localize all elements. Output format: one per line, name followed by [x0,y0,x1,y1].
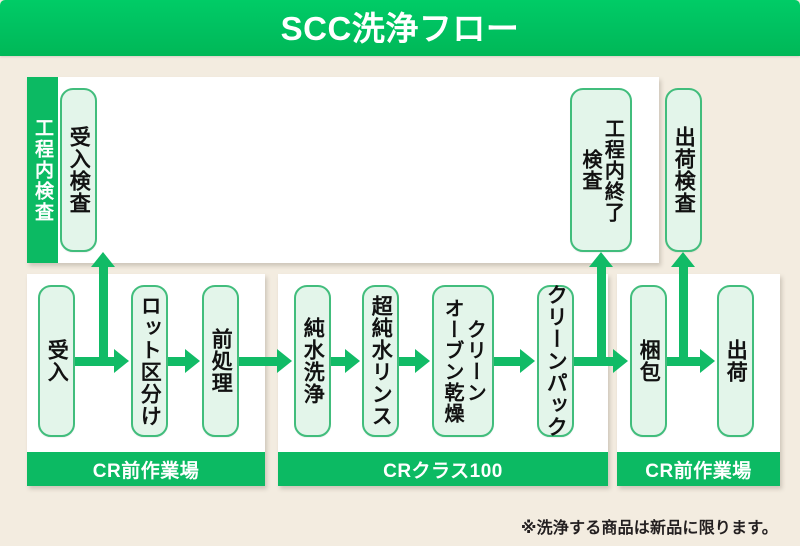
inspection-tab-label: 工程内検査 [33,118,52,223]
title-bar: SCC洗浄フロー [0,0,800,56]
arrow-receiving-to-lot-sorting [75,357,116,366]
process-box-ultrapure-water-rinse[interactable]: 超純水リンス [362,285,399,437]
group-footer: CR前作業場 [617,452,780,486]
group-footer-label: CR前作業場 [645,456,751,483]
inspection-box-label-col1: 工程内終了 [601,118,623,223]
process-box-shipping[interactable]: 出荷 [717,285,754,437]
footnote: ※洗浄する商品は新品に限ります。 [521,514,778,538]
process-box-label: 超純水リンス [369,295,393,427]
process-box-label: 出荷 [724,339,748,383]
group-footer-label: CR前作業場 [93,456,199,483]
arrow-branch-process-end-inspection [597,267,606,365]
inspection-box-shipping-inspection[interactable]: 出荷検査 [665,88,702,252]
arrow-branch-shipping-inspection [679,267,688,365]
process-box-packing[interactable]: 梱包 [630,285,667,437]
process-box-label: ロット区分け [138,295,162,427]
arrow-pure-water-wash-to-ultrapure-rinse [331,357,347,366]
inspection-box-label: 出荷検査 [672,126,696,214]
process-box-lot-sorting[interactable]: ロット区分け [131,285,168,437]
group-footer-label: CRクラス100 [383,456,503,483]
process-box-receiving[interactable]: 受入 [38,285,75,437]
process-box-clean-oven-drying[interactable]: クリーン オーブン乾燥 [432,285,494,437]
arrow-pretreatment-to-pure-water-wash [239,357,279,366]
process-box-label: クリーンパック [544,284,568,438]
process-box-label: 受入 [45,339,69,383]
inspection-box-process-end-inspection[interactable]: 工程内終了 検査 [570,88,632,252]
process-box-clean-pack[interactable]: クリーンパック [537,285,574,437]
arrow-ultrapure-rinse-to-clean-oven-drying [399,357,417,366]
inspection-box-receiving-inspection[interactable]: 受入検査 [60,88,97,252]
page-title: SCC洗浄フロー [281,12,520,45]
arrow-clean-pack-to-packing [574,357,615,366]
inspection-box-label-col2: 検査 [579,149,601,191]
inspection-panel: 工程内検査 [27,77,659,263]
group-footer: CRクラス100 [278,452,608,486]
process-box-pretreatment[interactable]: 前処理 [202,285,239,437]
process-box-label-col1: クリーン [463,319,485,403]
inspection-tab: 工程内検査 [27,77,58,263]
process-box-pure-water-wash[interactable]: 純水洗浄 [294,285,331,437]
arrow-branch-receiving-inspection [99,267,108,365]
process-box-label-col2: オーブン乾燥 [441,298,463,424]
inspection-box-label: 受入検査 [67,126,91,214]
group-footer: CR前作業場 [27,452,265,486]
process-box-label: 純水洗浄 [301,317,325,405]
arrow-clean-oven-drying-to-clean-pack [494,357,522,366]
arrow-lot-sorting-to-pretreatment [168,357,187,366]
process-box-label: 前処理 [209,328,233,394]
process-box-label: 梱包 [637,339,661,383]
